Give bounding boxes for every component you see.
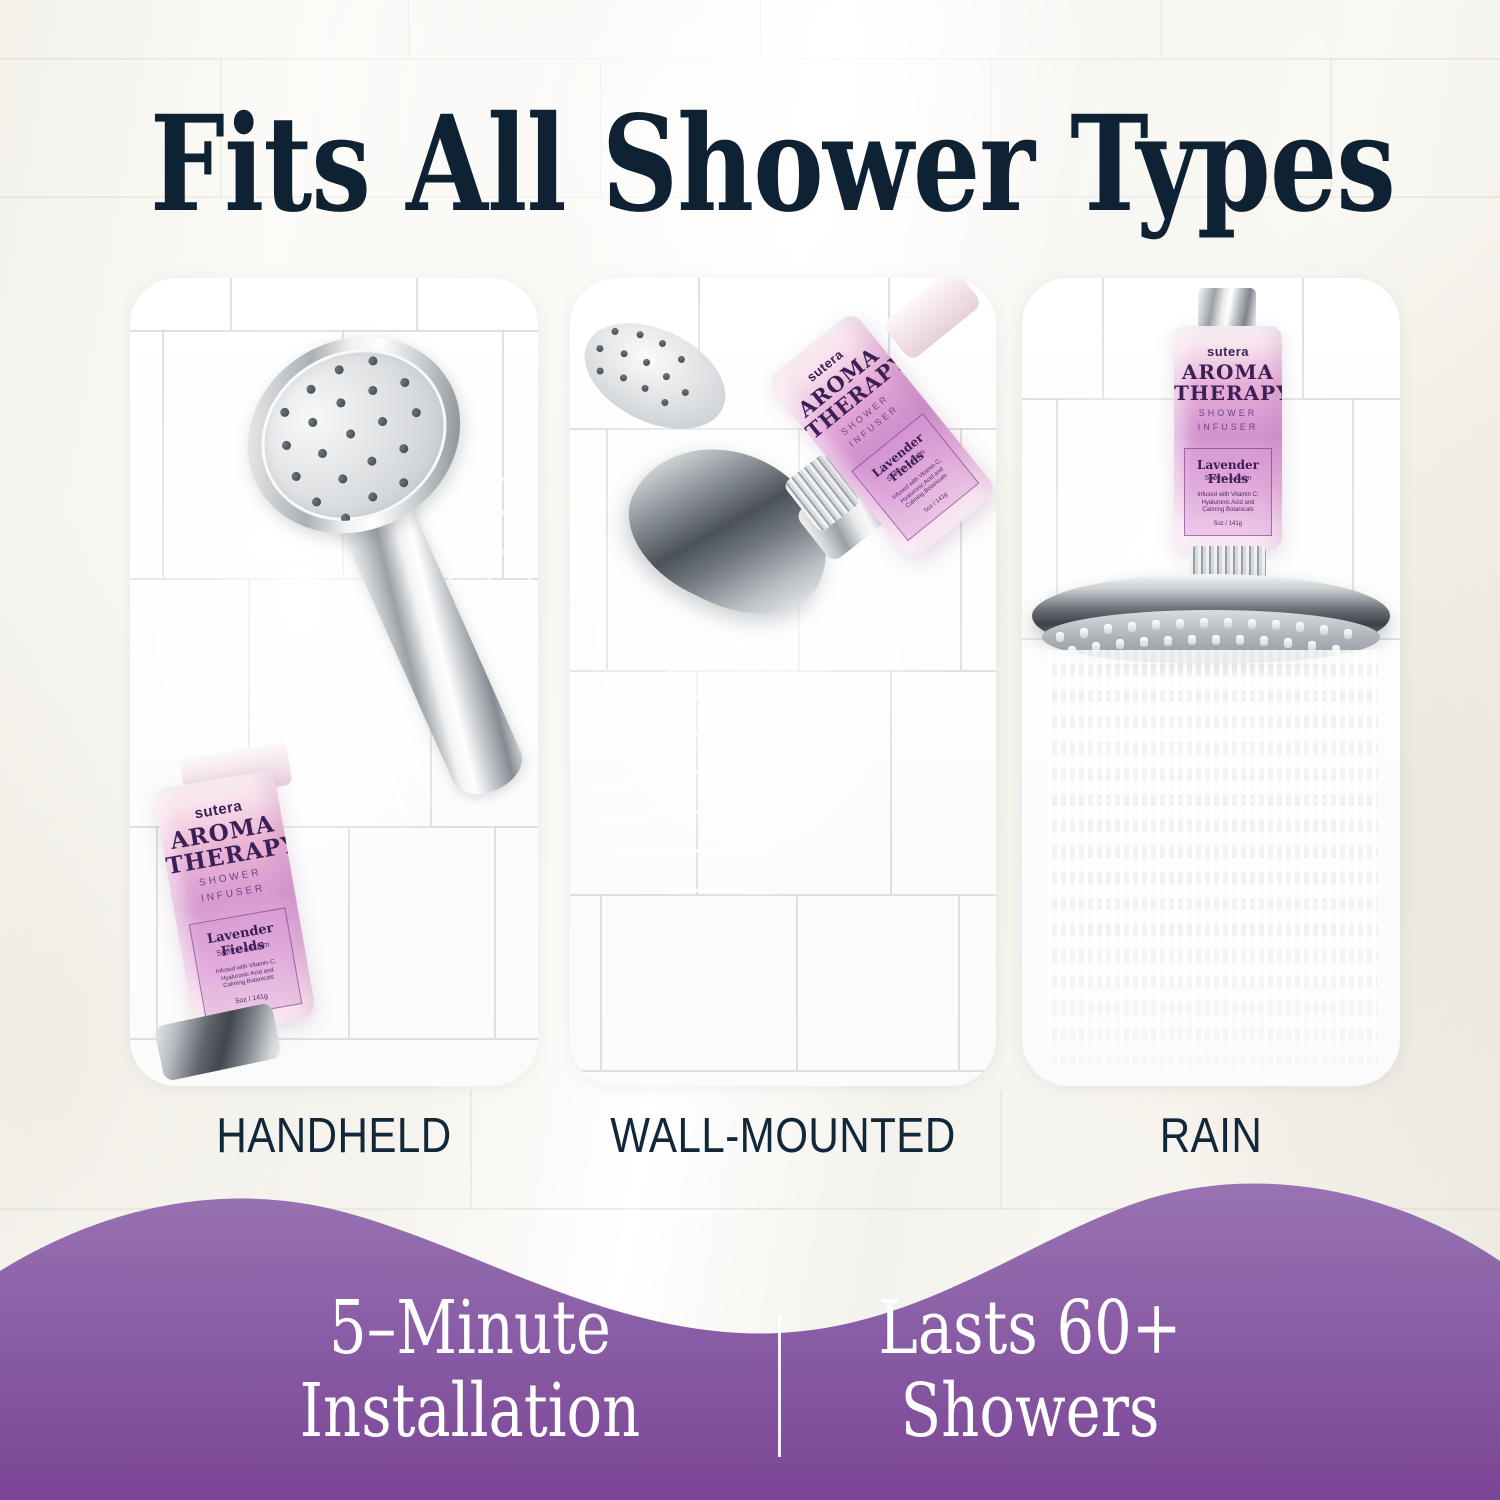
banner-text-row: 5–Minute Installation Lasts 60+ Showers [0, 1240, 1500, 1500]
bottle-size: 5oz / 141g [1185, 521, 1271, 527]
infuser-bottle-rain: sutera AROMA THERAPY SHOWER INFUSER Lave… [1174, 326, 1282, 552]
banner-right-line-1: Lasts 60+ [806, 1287, 1254, 1370]
falling-water [1048, 650, 1378, 1068]
bottle-tagline: Soothe & Calm [1185, 475, 1271, 482]
page-title: Fits All Shower Types [150, 98, 1350, 233]
bottle-sub-2: INFUSER [1174, 422, 1282, 432]
caption-handheld: HANDHELD [159, 1108, 510, 1164]
bottle-line-1: AROMA [1174, 362, 1282, 382]
banner-left-line-1: 5–Minute [246, 1287, 694, 1370]
bottle-fine-print: Infused with Vitamin C, Hyaluronic Acid … [1185, 492, 1271, 515]
panel-rain[interactable]: sutera AROMA THERAPY SHOWER INFUSER Lave… [1022, 278, 1400, 1086]
caption-wall-mounted: WALL-MOUNTED [591, 1108, 975, 1164]
bottle-line-2: THERAPY [1174, 383, 1282, 403]
panel-wall-mounted[interactable]: sutera AROMA THERAPY SHOWER INFUSER Lave… [570, 278, 996, 1086]
banner-right: Lasts 60+ Showers [806, 1287, 1254, 1453]
infographic-canvas: Fits All Shower Types [0, 0, 1500, 1500]
panel-handheld[interactable]: sutera AROMA THERAPY SHOWER INFUSER Lave… [130, 278, 538, 1086]
banner-divider [778, 1315, 781, 1457]
banner-left-line-2: Installation [246, 1370, 694, 1453]
bottle-brand: sutera [1174, 344, 1282, 359]
banner-right-line-2: Showers [806, 1370, 1254, 1453]
banner-left: 5–Minute Installation [246, 1287, 694, 1453]
bottle-sub-1: SHOWER [1174, 408, 1282, 418]
caption-rain: RAIN [1048, 1108, 1373, 1164]
